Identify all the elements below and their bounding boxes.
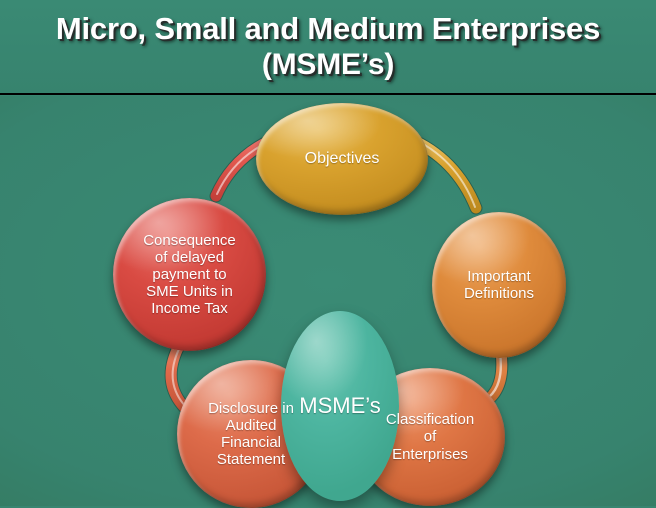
page-title-line-1: Micro, Small and Medium Enterprises [56,11,600,47]
node-consequence-of-delayed-payment[interactable]: Consequence of delayed payment to SME Un… [113,198,266,351]
label-line: Important [464,268,534,285]
label-line: Definitions [464,285,534,302]
label-line: Enterprises [386,446,474,463]
label-line: Income Tax [143,300,236,317]
cycle-diagram: Objectives Important Definitions Classif… [0,96,656,506]
connector-disclosure-consequence [171,344,186,408]
label-line: SME Units in [143,283,236,300]
node-important-definitions-label: Important Definitions [457,268,541,302]
node-important-definitions[interactable]: Important Definitions [432,212,566,358]
slide-canvas: Micro, Small and Medium Enterprises (MSM… [0,0,656,506]
connector-definitions-classification [489,352,502,398]
node-objectives-label: Objectives [298,150,387,168]
node-consequence-of-delayed-payment-label: Consequence of delayed payment to SME Un… [136,232,243,317]
label-line: Disclosure in [208,400,294,417]
node-center-msme-label: MSME’s [292,393,388,418]
node-center-msme[interactable]: MSME’s [281,311,399,501]
slide-header: Micro, Small and Medium Enterprises (MSM… [0,0,656,95]
label-line: Statement [208,451,294,468]
label-line: Classification [386,411,474,428]
page-title-line-2: (MSME’s) [262,47,394,83]
node-objectives[interactable]: Objectives [256,103,428,215]
node-classification-of-enterprises-label: Classification of Enterprises [379,411,481,462]
label-line: Consequence [143,232,236,249]
label-line: of [386,428,474,445]
label-line: Audited [208,417,294,434]
label-line: payment to [143,266,236,283]
label-line: Financial [208,434,294,451]
node-disclosure-in-audited-financial-statement-label: Disclosure in Audited Financial Statemen… [201,400,301,468]
label-line: of delayed [143,249,236,266]
